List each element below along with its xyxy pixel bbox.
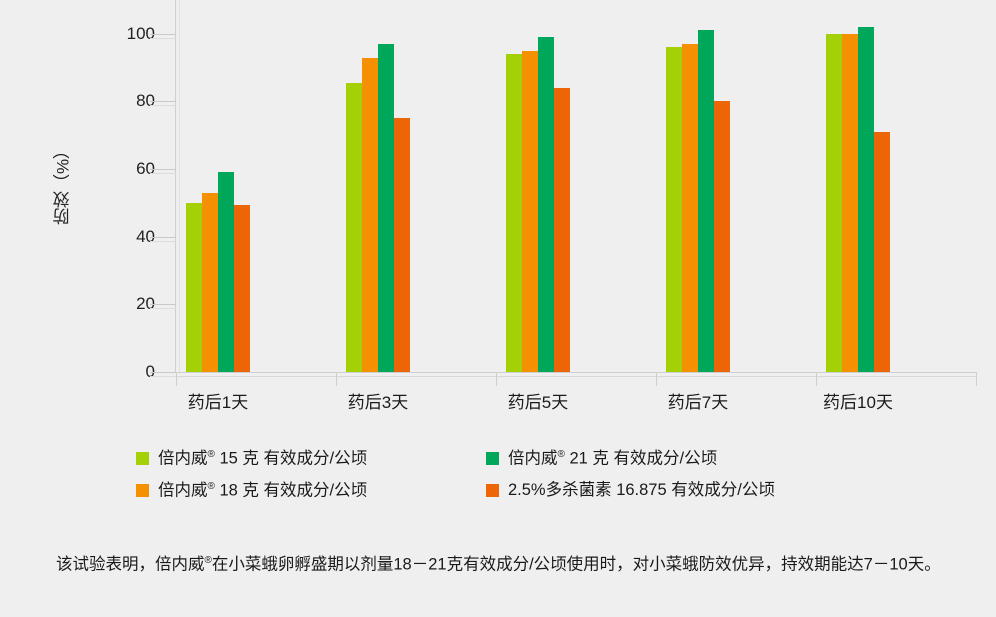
legend-swatch <box>486 484 499 497</box>
legend-swatch <box>136 452 149 465</box>
bar <box>362 58 378 373</box>
y-tick-label: 60 <box>95 159 155 179</box>
y-tick-mark-shadow <box>150 38 176 39</box>
x-tick-mark <box>336 372 337 386</box>
bar <box>378 44 394 372</box>
bar <box>826 34 842 372</box>
registered-mark: ® <box>205 555 212 566</box>
legend-label: 2.5%多杀菌素 16.875 有效成分/公顷 <box>508 482 775 499</box>
x-tick-label: 药后7天 <box>668 388 728 413</box>
y-tick-mark <box>150 372 176 373</box>
y-tick-label: 0 <box>95 362 155 382</box>
legend-item[interactable]: 倍内威® 18 克 有效成分/公顷 <box>136 482 367 499</box>
bar <box>506 54 522 372</box>
x-tick-mark <box>176 372 177 386</box>
x-tick-mark <box>656 372 657 386</box>
bar <box>538 37 554 372</box>
legend-swatch <box>136 484 149 497</box>
registered-mark: ® <box>208 449 215 460</box>
plot-area <box>176 0 976 372</box>
bar <box>666 47 682 372</box>
x-tick-label: 药后3天 <box>348 388 408 413</box>
y-tick-label: 80 <box>95 91 155 111</box>
legend-item[interactable]: 倍内威® 15 克 有效成分/公顷 <box>136 450 367 467</box>
bar <box>346 83 362 372</box>
x-axis-line-inner <box>176 376 976 377</box>
y-tick-mark-shadow <box>150 241 176 242</box>
x-tick-label: 药后1天 <box>188 388 248 413</box>
bar <box>522 51 538 372</box>
bar <box>698 30 714 372</box>
y-tick-mark-shadow <box>150 173 176 174</box>
y-axis-title: 防效（%） <box>46 118 80 248</box>
y-tick-mark <box>150 304 176 305</box>
bar-group <box>656 0 816 372</box>
legend-item[interactable]: 2.5%多杀菌素 16.875 有效成分/公顷 <box>486 482 775 499</box>
y-tick-mark <box>150 34 176 35</box>
y-tick-label: 40 <box>95 227 155 247</box>
bar <box>714 101 730 372</box>
bar <box>394 118 410 372</box>
bar <box>218 172 234 372</box>
legend-item[interactable]: 倍内威® 21 克 有效成分/公顷 <box>486 450 717 467</box>
bar <box>858 27 874 372</box>
bar-group <box>336 0 496 372</box>
y-tick-mark <box>150 101 176 102</box>
x-tick-label: 药后10天 <box>823 388 893 413</box>
y-tick-mark <box>150 237 176 238</box>
x-tick-mark <box>816 372 817 386</box>
bar-group <box>496 0 656 372</box>
legend-label: 倍内威® 21 克 有效成分/公顷 <box>508 450 717 467</box>
bar <box>842 34 858 372</box>
x-tick-mark <box>976 372 977 386</box>
bar <box>186 203 202 372</box>
bar-group <box>176 0 336 372</box>
y-tick-mark-shadow <box>150 105 176 106</box>
caption-text: 该试验表明，倍内威®在小菜蛾卵孵盛期以剂量18－21克有效成分/公顷使用时，对小… <box>22 546 974 580</box>
legend-label: 倍内威® 18 克 有效成分/公顷 <box>158 482 367 499</box>
x-tick-label: 药后5天 <box>508 388 568 413</box>
caption-part-2: 在小菜蛾卵孵盛期以剂量18－21克有效成分/公顷使用时，对小菜蛾防效优异，持效期… <box>212 556 941 574</box>
caption-part-1: 该试验表明，倍内威 <box>56 556 205 574</box>
bar <box>682 44 698 372</box>
bar <box>234 205 250 372</box>
registered-mark: ® <box>558 449 565 460</box>
y-tick-mark <box>150 169 176 170</box>
y-tick-mark-shadow <box>150 376 176 377</box>
legend-swatch <box>486 452 499 465</box>
bar-group <box>816 0 976 372</box>
y-tick-mark-shadow <box>150 308 176 309</box>
bar-chart: 防效（%） 020406080100 药后1天药后3天药后5天药后7天药后10天 <box>0 0 996 430</box>
registered-mark: ® <box>208 481 215 492</box>
bar <box>874 132 890 372</box>
y-tick-label: 100 <box>95 24 155 44</box>
x-tick-mark <box>496 372 497 386</box>
chart-legend: 倍内威® 15 克 有效成分/公顷倍内威® 21 克 有效成分/公顷倍内威® 1… <box>136 450 896 512</box>
x-axis-line <box>176 372 976 373</box>
legend-label: 倍内威® 15 克 有效成分/公顷 <box>158 450 367 467</box>
y-tick-label: 20 <box>95 294 155 314</box>
bar <box>554 88 570 372</box>
bar <box>202 193 218 372</box>
